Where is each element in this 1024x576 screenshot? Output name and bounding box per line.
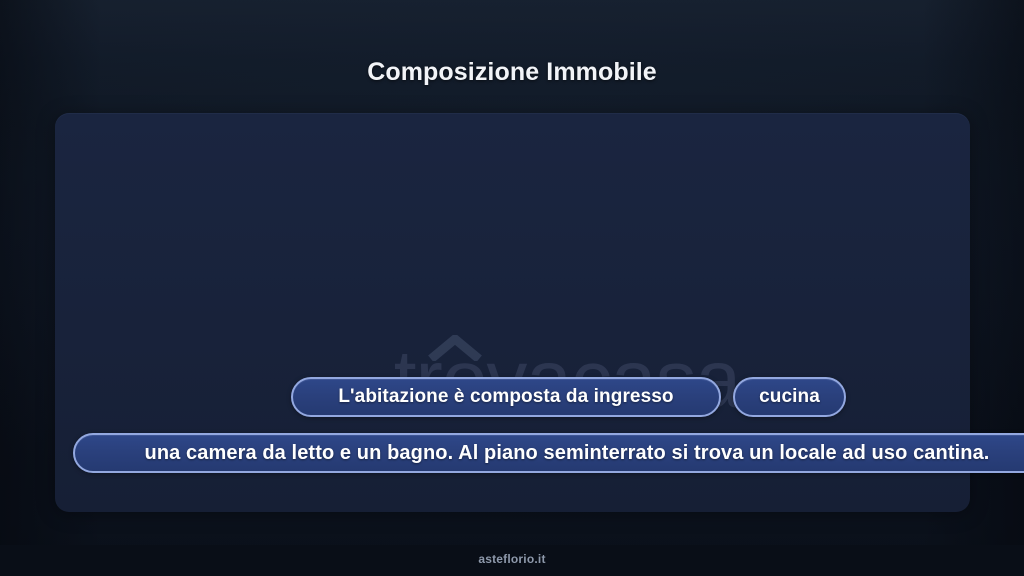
screenshot-root: Composizione Immobile trovacasa L'abitaz… xyxy=(0,0,1024,576)
composition-chip[interactable]: cucina xyxy=(733,377,846,417)
composition-chip[interactable]: una camera da letto e un bagno. Al piano… xyxy=(73,433,1024,473)
footer-site-label: asteflorio.it xyxy=(0,552,1024,566)
page-title: Composizione Immobile xyxy=(0,58,1024,87)
chevron-roof-icon xyxy=(427,335,483,361)
composition-chip[interactable]: L'abitazione è composta da ingresso xyxy=(291,377,721,417)
content-card: trovacasa L'abitazione è composta da ing… xyxy=(55,113,970,512)
